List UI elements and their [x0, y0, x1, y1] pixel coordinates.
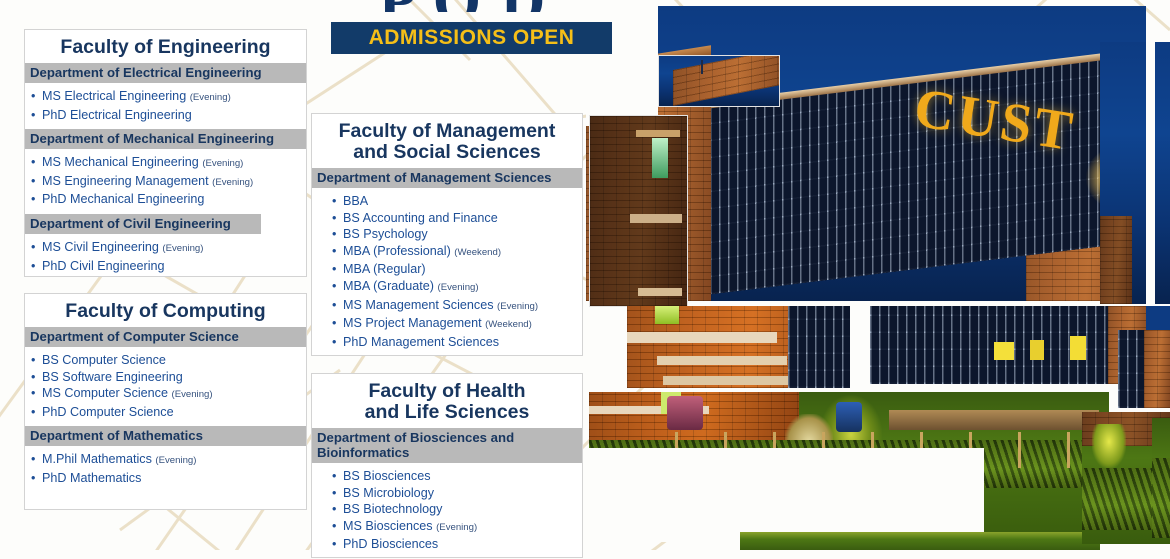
- department-header-civil: Department of Civil Engineering: [25, 214, 261, 234]
- photo-right-garden-tile-2: [1152, 418, 1170, 538]
- list-item: •MS Biosciences (Evening): [312, 518, 582, 537]
- faculty-title-health-line2: and Life Sciences: [316, 402, 578, 423]
- department-header-electrical: Department of Electrical Engineering: [25, 63, 306, 83]
- department-header-biosciences: Department of Biosciences and Bioinforma…: [312, 428, 582, 463]
- photo-right-garden-tree: [1092, 424, 1126, 468]
- department-block-mathematics: Department of Mathematics •M.Phil Mathem…: [25, 426, 306, 492]
- department-header-biosciences-text: Department of Biosciences and Bioinforma…: [317, 430, 514, 460]
- list-item: •BS Biosciences: [312, 468, 582, 485]
- photo-lawn-notch-mask: [589, 448, 984, 542]
- department-block-computer-science: Department of Computer Science •BS Compu…: [25, 327, 306, 426]
- photo-boundary-wall: [889, 410, 1099, 430]
- list-item: •PhD Civil Engineering: [25, 258, 306, 275]
- list-item: •MS Civil Engineering (Evening): [25, 239, 306, 258]
- program-list-mechanical: •MS Mechanical Engineering (Evening) •MS…: [25, 149, 306, 214]
- list-item: •MS Computer Science (Evening): [25, 385, 306, 404]
- program-list-electrical: •MS Electrical Engineering (Evening) •Ph…: [25, 83, 306, 129]
- photo-lit-window-green: [652, 138, 668, 178]
- photo-facade-band-1: [627, 332, 777, 343]
- list-item: •MS Project Management (Weekend): [312, 315, 582, 334]
- program-list-computer-science: •BS Computer Science •BS Software Engine…: [25, 347, 306, 426]
- department-header-management-sciences: Department of Management Sciences: [312, 168, 582, 188]
- photo-right-sky-strip: [1100, 42, 1146, 304]
- department-header-computer-science: Department of Computer Science: [25, 327, 306, 347]
- photo-facade-glass-right: [788, 306, 850, 388]
- photo-ledge-1: [636, 130, 680, 137]
- faculty-title-management-line2: and Social Sciences: [316, 142, 578, 163]
- list-item: •MS Mechanical Engineering (Evening): [25, 154, 306, 173]
- list-item: •MS Engineering Management (Evening): [25, 173, 306, 192]
- list-item: •BS Accounting and Finance: [312, 210, 582, 227]
- photo-strip-brick: [1100, 216, 1132, 304]
- faculty-title-management: Faculty of Management and Social Science…: [312, 114, 582, 168]
- panel-faculty-of-computing: Faculty of Computing Department of Compu…: [24, 293, 307, 510]
- page-title-cropped: P O D: [283, 0, 643, 12]
- panel-faculty-of-management-and-social-sciences: Faculty of Management and Social Science…: [311, 113, 583, 356]
- faculty-title-management-line1: Faculty of Management: [316, 121, 578, 142]
- department-block-mechanical: Department of Mechanical Engineering •MS…: [25, 129, 306, 214]
- department-block-civil: Department of Civil Engineering •MS Civi…: [25, 214, 306, 280]
- photo-right-column-sky-tile: [1118, 330, 1170, 408]
- list-item: •PhD Management Sciences: [312, 334, 582, 351]
- photo-students-group: [667, 396, 703, 430]
- list-item: •BS Microbiology: [312, 485, 582, 502]
- program-list-biosciences: •BS Biosciences •BS Microbiology •BS Bio…: [312, 463, 582, 559]
- photo-far-right-sky-strip: [1155, 42, 1170, 304]
- photo-right-garden-hedge-2: [1152, 458, 1170, 538]
- list-item: •PhD Electrical Engineering: [25, 107, 306, 124]
- list-item: •MS Management Sciences (Evening): [312, 297, 582, 316]
- list-item: •MBA (Regular): [312, 261, 582, 278]
- photo-roof-corner-tile: [658, 55, 780, 107]
- photo-left-detail-tile: [589, 115, 688, 307]
- faculty-title-computing: Faculty of Computing: [25, 294, 306, 327]
- panel-faculty-of-health-and-life-sciences: Faculty of Health and Life Sciences Depa…: [311, 373, 583, 558]
- list-item: •MBA (Professional) (Weekend): [312, 243, 582, 262]
- photo-glass-lit-window-b: [1030, 340, 1044, 360]
- photo-facade-band-2: [657, 356, 787, 365]
- photo-facade-band-3: [663, 376, 793, 385]
- list-item: •M.Phil Mathematics (Evening): [25, 451, 306, 470]
- photo-glass-lit-window-a: [994, 342, 1014, 360]
- campus-photo-mosaic: CUST: [580, 0, 1170, 550]
- photo-facade-window-green: [655, 306, 679, 324]
- list-item: •PhD Mathematics: [25, 470, 306, 487]
- list-item: •PhD Computer Science: [25, 404, 306, 421]
- list-item: •BS Computer Science: [25, 352, 306, 369]
- department-header-mathematics: Department of Mathematics: [25, 426, 306, 446]
- list-item: •BBA: [312, 193, 582, 210]
- list-item: •PhD Biosciences: [312, 536, 582, 553]
- list-item: •BS Software Engineering: [25, 369, 306, 386]
- photo-lawn-sliver-strip: [740, 532, 1100, 550]
- faculty-title-health: Faculty of Health and Life Sciences: [312, 374, 582, 428]
- list-item: •PhD Mechanical Engineering: [25, 191, 306, 208]
- photo-brick-facade-tile: [627, 306, 850, 388]
- program-list-civil: •MS Civil Engineering (Evening) •PhD Civ…: [25, 234, 306, 280]
- department-block-biosciences: Department of Biosciences and Bioinforma…: [312, 428, 582, 559]
- photo-ledge-2: [630, 214, 682, 223]
- list-item: •BS Psychology: [312, 226, 582, 243]
- faculty-title-health-line1: Faculty of Health: [316, 381, 578, 402]
- program-list-management-sciences: •BBA •BS Accounting and Finance •BS Psyc…: [312, 188, 582, 356]
- list-item: •BS Biotechnology: [312, 501, 582, 518]
- department-block-management-sciences: Department of Management Sciences •BBA •…: [312, 168, 582, 356]
- admissions-open-banner: ADMISSIONS OPEN: [331, 22, 612, 54]
- photo-antenna: [701, 60, 703, 74]
- list-item: •MS Electrical Engineering (Evening): [25, 88, 306, 107]
- panel-faculty-of-engineering: Faculty of Engineering Department of Ele…: [24, 29, 307, 277]
- photo-lawn-garden-tile: [589, 392, 1109, 542]
- program-list-mathematics: •M.Phil Mathematics (Evening) •PhD Mathe…: [25, 446, 306, 492]
- photo-student-blue: [836, 402, 862, 432]
- department-header-mechanical: Department of Mechanical Engineering: [25, 129, 306, 149]
- faculty-title-engineering: Faculty of Engineering: [25, 30, 306, 63]
- list-item: •MBA (Graduate) (Evening): [312, 278, 582, 297]
- photo-right-column-brick: [1144, 330, 1170, 408]
- department-block-electrical: Department of Electrical Engineering •MS…: [25, 63, 306, 129]
- photo-glass-lit-window-c: [1070, 336, 1086, 360]
- photo-ledge-3: [638, 288, 682, 296]
